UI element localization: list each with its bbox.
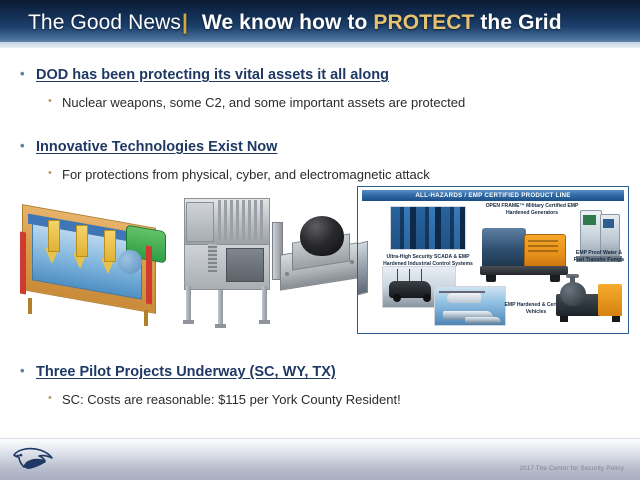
fuel-screen-1 [583, 215, 596, 225]
fuel-screen-2 [603, 219, 614, 228]
pump-volute [560, 282, 586, 306]
boat-hull-2 [465, 317, 501, 324]
product-line-panel: ALL-HAZARDS / EMP CERTIFIED PRODUCT LINE… [357, 186, 629, 334]
generator-vent-2 [528, 245, 558, 247]
cad-blue-cylinder [118, 250, 142, 274]
transfer-pump-photo [554, 276, 628, 328]
bullet-l2-pilots: SC: Costs are reasonable: $115 per York … [0, 391, 640, 408]
eagle-logo-icon [8, 444, 60, 474]
generators-label: OPEN FRAME™ Military Certified EMP Harde… [480, 203, 584, 216]
vehicle-antenna-1 [397, 269, 398, 281]
rack-dark-panel [226, 248, 264, 282]
pump-foot-2 [612, 316, 620, 322]
bullet-l1-tech-text: Innovative Technologies Exist Now [36, 139, 277, 155]
page-title: The Good News| We know how to PROTECT th… [28, 11, 562, 35]
pumps-label: EMP Proof Water & Fuel Transfer Pumps [570, 250, 628, 263]
bullet-l1-dod: DOD has been protecting its vital assets… [0, 66, 640, 84]
cad-tower-1 [48, 220, 60, 252]
bullet-group-3: Three Pilot Projects Underway (SC, WY, T… [0, 363, 640, 408]
bullet-l2-tech: For protections from physical, cyber, an… [0, 166, 640, 183]
cad-machine-image [14, 198, 174, 326]
generator-vent-1 [528, 240, 558, 242]
equipment-rack-image [178, 194, 274, 328]
generator-vent-3 [528, 250, 558, 252]
bullet-l1-tech: Innovative Technologies Exist Now [0, 138, 640, 156]
cad-tower-3 [104, 230, 116, 262]
pump-foot-1 [560, 316, 568, 322]
generator-foot-1 [486, 275, 496, 282]
rack-foot-2 [215, 324, 226, 328]
scada-control-room-photo [390, 206, 466, 250]
rack-leg-3 [262, 286, 267, 322]
cad-red-post-right [146, 245, 152, 304]
rack-foot-3 [259, 320, 270, 324]
dome-black-dome [300, 216, 344, 256]
rack-cabinet [186, 202, 214, 242]
vehicle-antenna-3 [421, 269, 422, 281]
vehicle-antenna-2 [409, 269, 410, 281]
title-separator: | [182, 11, 188, 34]
side-equipment-box [357, 241, 368, 299]
product-panel-body: Ultra-High Security SCADA & EMP Hardened… [358, 202, 629, 334]
title-lead: The Good News [28, 11, 181, 34]
pump-motor [598, 284, 622, 316]
generator-engine [482, 228, 526, 268]
cad-leg-1 [28, 298, 32, 314]
bullet-group-2: Innovative Technologies Exist Now For pr… [0, 138, 640, 183]
rack-pipe-bank [218, 200, 266, 242]
dome-screw-2 [350, 260, 354, 264]
title-rest-a: We know how to [202, 11, 373, 34]
bullet-group-1: DOD has been protecting its vital assets… [0, 66, 640, 111]
bullet-l1-pilots: Three Pilot Projects Underway (SC, WY, T… [0, 363, 640, 381]
slide-footer: 2017 The Center for Security Policy [0, 438, 640, 480]
footer-copyright: 2017 The Center for Security Policy [519, 465, 624, 472]
slide: The Good News| We know how to PROTECT th… [0, 0, 640, 480]
title-accent-word: PROTECT [373, 11, 474, 34]
dome-screw-1 [285, 272, 289, 276]
rack-foot-1 [183, 320, 194, 324]
rack-spring [208, 244, 217, 274]
rack-leg-1 [186, 286, 191, 322]
product-panel-header: ALL-HAZARDS / EMP CERTIFIED PRODUCT LINE [362, 190, 624, 201]
slide-title-bar: The Good News| We know how to PROTECT th… [0, 0, 640, 48]
bullet-l1-pilots-text: Three Pilot Projects Underway (SC, WY, T… [36, 364, 336, 380]
vehicle-wheel-1 [393, 294, 401, 302]
rack-leg-2 [218, 290, 223, 326]
generator-skid [480, 266, 568, 275]
dome-sensor-image [278, 214, 364, 300]
vehicle-wheel-2 [423, 294, 431, 302]
bullet-l1-dod-text: DOD has been protecting its vital assets… [36, 67, 389, 83]
title-rest-b: the Grid [474, 11, 561, 34]
cad-leg-2 [144, 310, 148, 326]
helicopter-body [447, 293, 481, 303]
bullet-l2-dod: Nuclear weapons, some C2, and some impor… [0, 94, 640, 111]
cad-red-post-left [20, 231, 26, 294]
boats-helicopter-photo [434, 286, 506, 326]
cad-tower-2 [76, 225, 88, 257]
